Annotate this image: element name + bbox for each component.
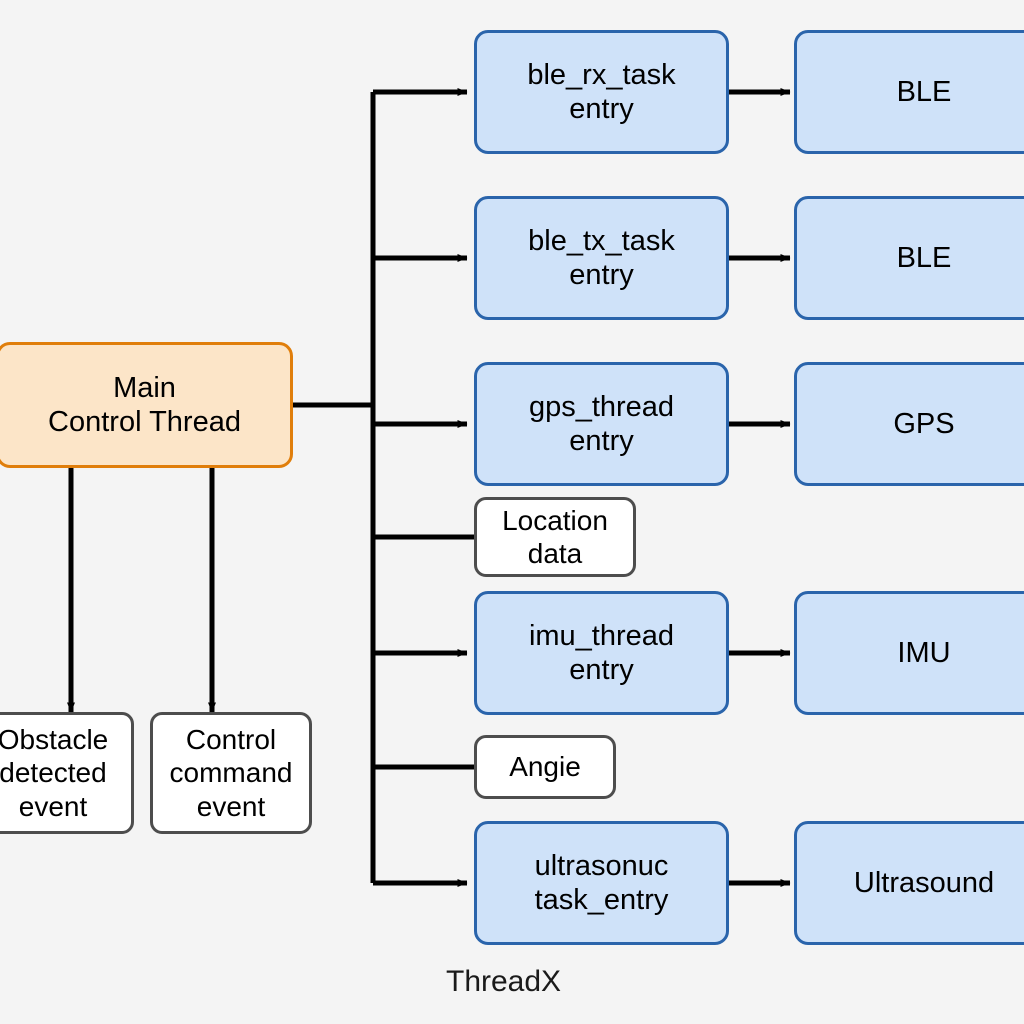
- node-task-ble-rx[interactable]: ble_rx_task entry: [474, 30, 729, 154]
- node-control-command-event[interactable]: Control command event: [150, 712, 312, 834]
- node-task-ble-tx[interactable]: ble_tx_task entry: [474, 196, 729, 320]
- node-device-ultrasound[interactable]: Ultrasound: [794, 821, 1024, 945]
- node-device-ble-rx[interactable]: BLE: [794, 30, 1024, 154]
- node-device-gps[interactable]: GPS: [794, 362, 1024, 486]
- node-task-imu-thread[interactable]: imu_thread entry: [474, 591, 729, 715]
- node-task-ultrasonuc[interactable]: ultrasonuc task_entry: [474, 821, 729, 945]
- node-task-gps-thread[interactable]: gps_thread entry: [474, 362, 729, 486]
- diagram-canvas: Main Control Thread ble_rx_task entry bl…: [0, 0, 1024, 1024]
- node-angie[interactable]: Angie: [474, 735, 616, 799]
- diagram-caption-threadx: ThreadX: [446, 965, 561, 999]
- node-obstacle-detected-event[interactable]: Obstacle detected event: [0, 712, 134, 834]
- node-device-ble-tx[interactable]: BLE: [794, 196, 1024, 320]
- node-device-imu[interactable]: IMU: [794, 591, 1024, 715]
- node-main-control-thread[interactable]: Main Control Thread: [0, 342, 293, 468]
- node-location-data[interactable]: Location data: [474, 497, 636, 577]
